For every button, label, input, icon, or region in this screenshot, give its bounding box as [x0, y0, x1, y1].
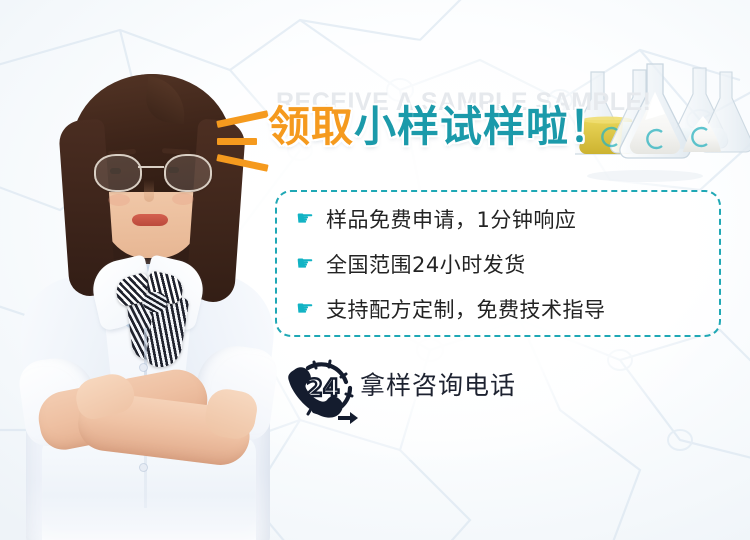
phone-24h-icon: 24 — [284, 348, 362, 426]
cheek-left — [108, 194, 130, 206]
feature-text: 支持配方定制，免费技术指导 — [326, 294, 606, 324]
orange-chevron-lines-icon — [213, 115, 271, 167]
pointing-hand-icon: ☛ — [296, 254, 326, 274]
feature-text: 全国范围24小时发货 — [326, 249, 526, 279]
consultant-photo — [20, 28, 275, 540]
feature-list: ☛ 样品免费申请，1分钟响应 ☛ 全国范围24小时发货 ☛ 支持配方定制，免费技… — [296, 196, 716, 331]
nose — [144, 180, 154, 202]
sample-request-banner: RECEIVE A SAMPLE SAMPLE! 领取小样试样啦！ ☛ 样品免费… — [0, 0, 750, 540]
shirt-button — [140, 464, 147, 471]
striped-bow-scarf — [116, 274, 202, 382]
list-item: ☛ 样品免费申请，1分钟响应 — [296, 196, 716, 241]
shirt-button — [140, 364, 147, 371]
lips — [132, 214, 168, 226]
page-title: 领取小样试样啦！ — [268, 106, 612, 148]
bow-knot — [143, 292, 167, 312]
pointing-hand-icon: ☛ — [296, 209, 326, 229]
glasses-bridge — [138, 166, 164, 168]
title-teal-part: 小样试样啦！ — [354, 102, 612, 151]
feature-text: 样品免费申请，1分钟响应 — [326, 204, 576, 234]
arrow-right-icon — [338, 412, 358, 424]
contact-label: 拿样咨询电话 — [360, 366, 516, 402]
lens-right — [164, 154, 212, 192]
title-orange-part: 领取 — [268, 102, 354, 151]
lens-left — [94, 154, 142, 192]
list-item: ☛ 全国范围24小时发货 — [296, 241, 716, 286]
cheek-right — [172, 193, 194, 205]
pointing-hand-icon: ☛ — [296, 299, 326, 319]
list-item: ☛ 支持配方定制，免费技术指导 — [296, 286, 716, 331]
contact-block: 24 拿样咨询电话 — [284, 348, 624, 430]
